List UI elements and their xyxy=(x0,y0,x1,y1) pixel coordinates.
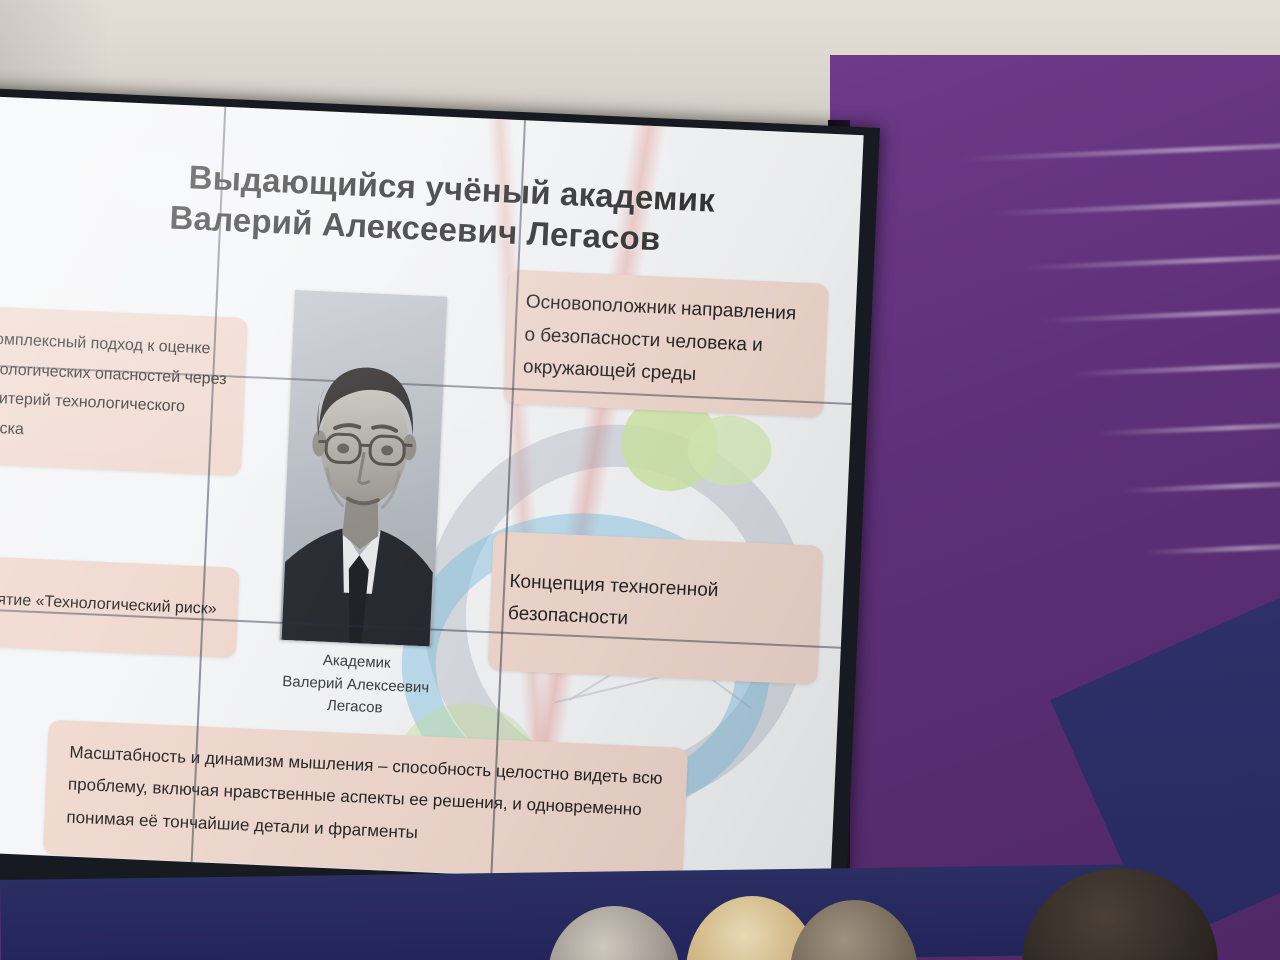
card-text: Масштабность и динамизм мышления – спосо… xyxy=(66,737,670,860)
portrait-photo xyxy=(280,290,447,646)
card-text: Концепция техногенной безопасности xyxy=(507,566,804,644)
portrait-caption: Академик Валерий Алексеевич Легасов xyxy=(239,646,472,724)
video-wall-screen[interactable]: Выдающийся учёный академик Валерий Алекс… xyxy=(0,88,880,918)
portrait-illustration xyxy=(280,290,447,646)
card-technogenic-safety: Концепция техногенной безопасности xyxy=(488,531,824,684)
card-scale-and-dynamism: Масштабность и динамизм мышления – спосо… xyxy=(43,720,688,883)
photo-scene: Выдающийся учёный академик Валерий Алекс… xyxy=(0,0,1280,960)
page-title: Выдающийся учёный академик Валерий Алекс… xyxy=(0,148,861,269)
card-text: Комплексный подход к оценке экологически… xyxy=(0,324,231,453)
card-text: Основоположник направления о безопасност… xyxy=(522,286,810,397)
green-circle-icon xyxy=(686,414,773,488)
presentation-slide: Выдающийся учёный академик Валерий Алекс… xyxy=(0,96,864,891)
